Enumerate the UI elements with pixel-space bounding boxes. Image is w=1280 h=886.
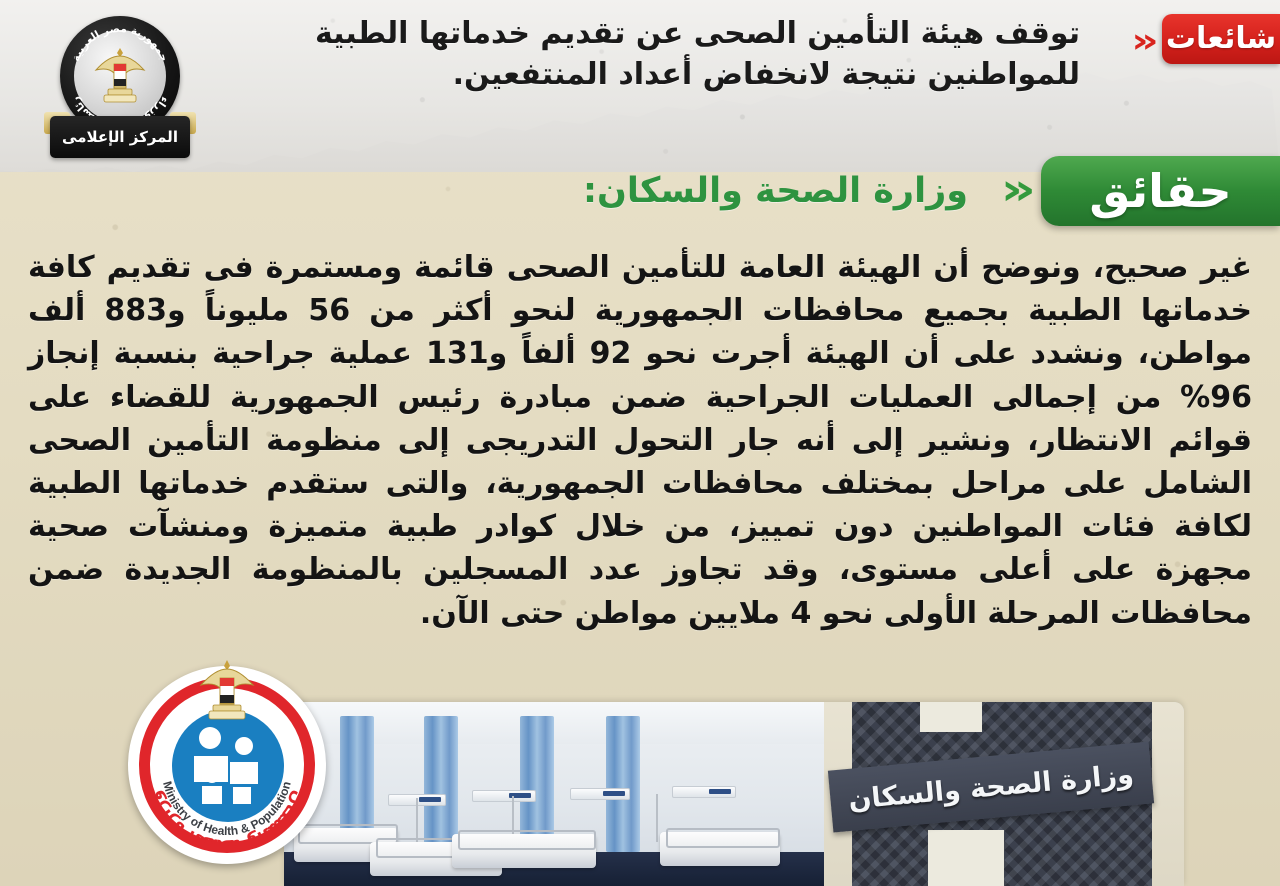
cabinet-logo-ribbon: المركز الإعلامى: [50, 116, 190, 158]
hospital-bed-rail: [458, 830, 596, 850]
building-wall-panel: [920, 702, 982, 732]
bottom-photo: وزارة الصحة والسكان: [284, 702, 1184, 886]
rumor-badge-label: شائعات: [1166, 24, 1276, 54]
facts-badge-label: حقائق: [1089, 168, 1231, 214]
rumor-chevron-icon: «: [1131, 24, 1158, 58]
rumor-text: توقف هيئة التأمين الصحى عن تقديم خدماتها…: [190, 14, 1080, 96]
ward-wall-panel: [472, 790, 536, 802]
building-wall-panel: [928, 830, 1004, 886]
ministry-building-sign-label: وزارة الصحة والسكان: [847, 761, 1135, 814]
hospital-ward-photo: [284, 702, 844, 886]
fact-check-poster: جمهورية مصر العربية رئاسة مجلس الوزراء ا…: [0, 0, 1280, 886]
ward-curtain: [606, 716, 640, 852]
ward-wall-panel: [672, 786, 736, 798]
facts-source-label: وزارة الصحة والسكان:: [583, 170, 968, 212]
ward-wall-panel: [570, 788, 630, 800]
ministry-building-photo: وزارة الصحة والسكان: [824, 702, 1184, 886]
eagle-of-saladin-icon: [92, 44, 148, 106]
ministry-of-health-logo: Ministry of Health & Population وزارة ال…: [128, 666, 326, 866]
facts-badge: حقائق: [1041, 156, 1280, 226]
cabinet-ribbon-label: المركز الإعلامى: [50, 116, 190, 158]
iv-pole: [416, 798, 418, 842]
ward-curtain: [424, 716, 458, 852]
facts-statement: غير صحيح، ونوضح أن الهيئة العامة للتأمين…: [28, 246, 1252, 635]
hospital-bed-rail: [666, 828, 780, 848]
rumor-badge: شائعات: [1162, 14, 1280, 64]
facts-chevron-icon: «: [1000, 168, 1036, 212]
moh-logo-curved-text: Ministry of Health & Population وزارة ال…: [128, 666, 326, 864]
cabinet-media-center-logo: جمهورية مصر العربية رئاسة مجلس الوزراء ا…: [44, 12, 196, 174]
iv-pole: [656, 794, 658, 842]
